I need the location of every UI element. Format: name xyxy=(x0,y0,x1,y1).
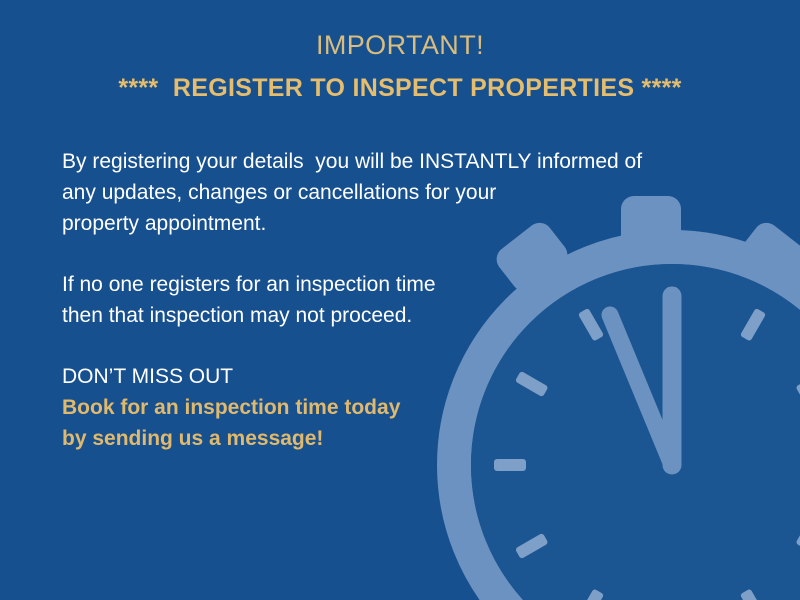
cta-dont-miss-out: DON’T MISS OUT xyxy=(62,361,722,392)
paragraph1-line-2: any updates, changes or cancellations fo… xyxy=(62,177,722,208)
paragraph-no-registration: If no one registers for an inspection ti… xyxy=(62,269,722,331)
slide-content: IMPORTANT! **** REGISTER TO INSPECT PROP… xyxy=(0,0,800,600)
body-block: By registering your details you will be … xyxy=(62,146,722,454)
headline-register: **** REGISTER TO INSPECT PROPERTIES **** xyxy=(0,72,800,104)
slide-canvas: IMPORTANT! **** REGISTER TO INSPECT PROP… xyxy=(0,0,800,600)
paragraph1-line-1: By registering your details you will be … xyxy=(62,146,722,177)
cta-send-message: by sending us a message! xyxy=(62,423,722,454)
paragraph2-line-2: then that inspection may not proceed. xyxy=(62,300,722,331)
paragraph1-line-3: property appointment. xyxy=(62,208,722,239)
paragraph2-line-1: If no one registers for an inspection ti… xyxy=(62,269,722,300)
headline-important: IMPORTANT! xyxy=(0,28,800,62)
headline-block: IMPORTANT! **** REGISTER TO INSPECT PROP… xyxy=(0,28,800,104)
paragraph-registering: By registering your details you will be … xyxy=(62,146,722,239)
cta-book-inspection: Book for an inspection time today xyxy=(62,392,722,423)
paragraph-call-to-action: DON’T MISS OUT Book for an inspection ti… xyxy=(62,361,722,454)
